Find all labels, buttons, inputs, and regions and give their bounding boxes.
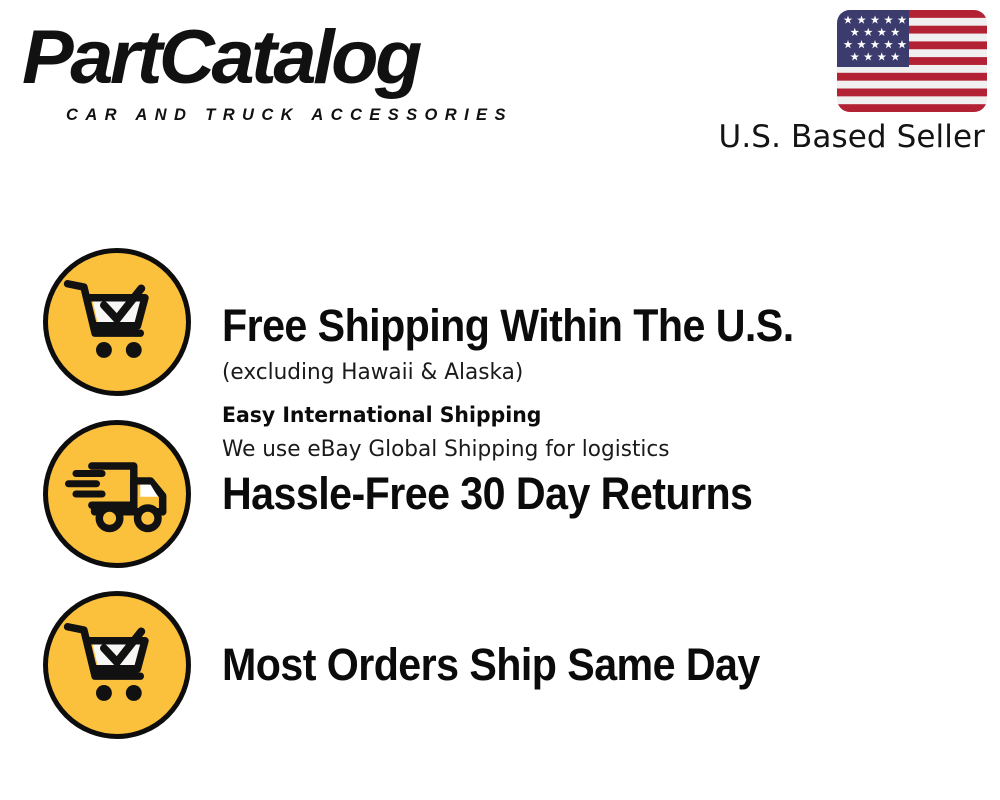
feature-heading: Free Shipping Within The U.S. <box>222 300 890 352</box>
partcatalog-logo[interactable]: PartCatalog CAR AND TRUCK ACCESSORIES <box>22 20 492 115</box>
brand-tagline: CAR AND TRUCK ACCESSORIES <box>66 106 513 124</box>
feature-row: Most Orders Ship Same Day <box>0 591 1000 766</box>
page-header: PartCatalog CAR AND TRUCK ACCESSORIES <box>0 0 1000 175</box>
brand-wordmark: PartCatalog <box>22 20 419 96</box>
feature-text-block: Most Orders Ship Same Day <box>222 639 952 691</box>
feature-row: Free Shipping Within The U.S. (excluding… <box>0 248 1000 420</box>
feature-list: Free Shipping Within The U.S. (excluding… <box>0 175 1000 800</box>
shopping-cart-check-icon <box>43 248 191 396</box>
feature-heading: Most Orders Ship Same Day <box>222 639 890 691</box>
us-flag-icon <box>837 10 987 112</box>
feature-heading: Hassle-Free 30 Day Returns <box>222 468 890 520</box>
feature-row: Hassle-Free 30 Day Returns <box>0 420 1000 591</box>
feature-subtext: (excluding Hawaii & Alaska) <box>222 356 923 388</box>
feature-text-block: Hassle-Free 30 Day Returns <box>222 468 952 520</box>
delivery-truck-icon <box>43 420 191 568</box>
us-based-seller-label: U.S. Based Seller <box>719 118 985 156</box>
shopping-cart-check-icon <box>43 591 191 739</box>
